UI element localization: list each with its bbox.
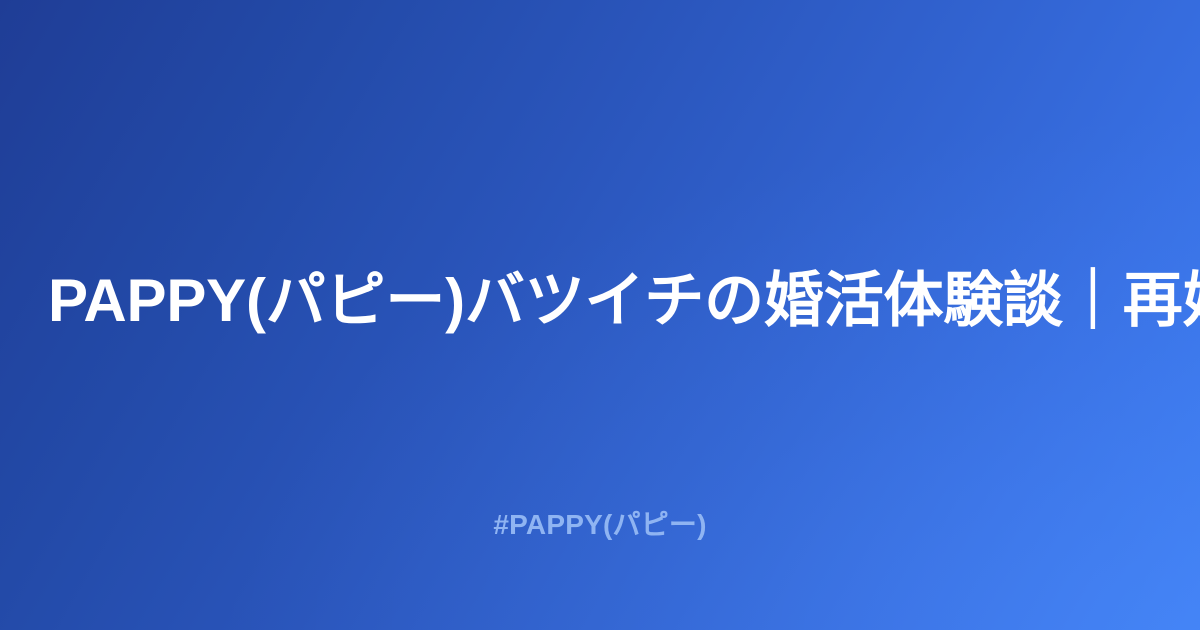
- hashtag-label: #PAPPY(パピー): [493, 508, 706, 542]
- page-title: PAPPY(パピー)バツイチの婚活体験談｜再婚できた: [48, 263, 1154, 340]
- subtitle-container: #PAPPY(パピー): [0, 508, 1200, 542]
- og-share-card: PAPPY(パピー)バツイチの婚活体験談｜再婚できた #PAPPY(パピー): [0, 0, 1200, 630]
